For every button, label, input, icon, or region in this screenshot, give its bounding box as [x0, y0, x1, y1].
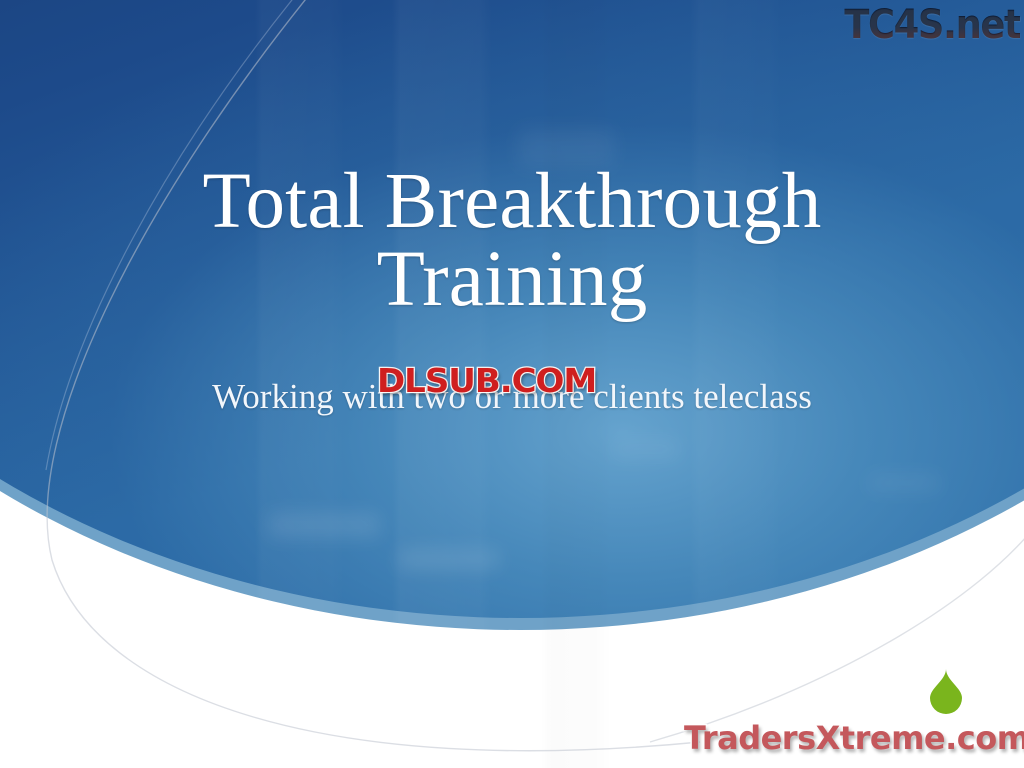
- page-title: Total Breakthrough Training: [0, 163, 1024, 319]
- title-block: Total Breakthrough Training: [0, 163, 1024, 319]
- green-droplet-icon: [929, 668, 963, 714]
- presentation-slide: Total Breakthrough Training Working with…: [0, 0, 1024, 768]
- watermark-tc4s: TC4S.net: [844, 2, 1020, 48]
- watermark-dlsub: DLSUB.COM: [377, 361, 596, 400]
- watermark-tradersxtreme: TradersXtreme.com: [684, 719, 1024, 757]
